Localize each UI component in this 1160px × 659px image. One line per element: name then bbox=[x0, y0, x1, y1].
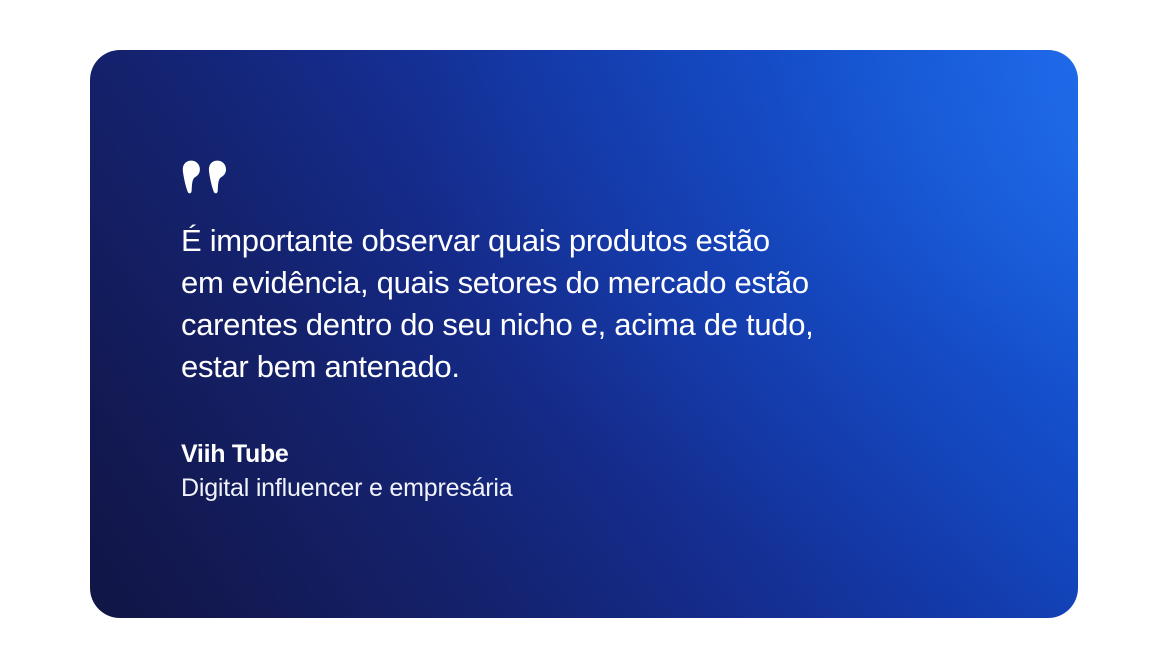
quote-line: carentes dentro do seu nicho e, acima de… bbox=[181, 304, 981, 346]
testimonial-card-content: É importante observar quais produtos est… bbox=[90, 50, 1078, 505]
attribution-role: Digital influencer e empresária bbox=[181, 471, 1078, 505]
testimonial-attribution: Viih Tube Digital influencer e empresári… bbox=[181, 438, 1078, 505]
testimonial-quote: É importante observar quais produtos est… bbox=[181, 220, 981, 388]
quote-line: estar bem antenado. bbox=[181, 346, 981, 388]
page-root: É importante observar quais produtos est… bbox=[0, 0, 1160, 659]
quote-open-icon bbox=[181, 160, 229, 194]
quote-line: em evidência, quais setores do mercado e… bbox=[181, 262, 981, 304]
attribution-name: Viih Tube bbox=[181, 438, 1078, 471]
testimonial-card: É importante observar quais produtos est… bbox=[90, 50, 1078, 618]
quote-line: É importante observar quais produtos est… bbox=[181, 220, 981, 262]
